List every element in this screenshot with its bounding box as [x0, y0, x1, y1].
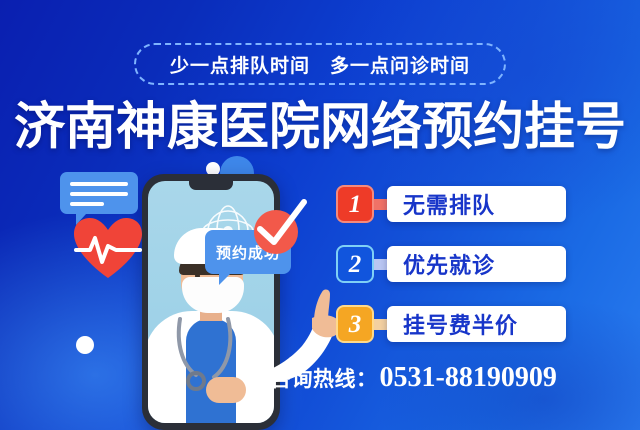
chat-line	[70, 192, 128, 196]
feature-row-3[interactable]: 3 挂号费半价	[336, 302, 566, 346]
doctor-hand	[206, 377, 246, 403]
feature-list: 1 无需排队 2 优先就诊 3 挂号费半价	[336, 182, 566, 362]
check-mark-icon	[250, 196, 310, 256]
heart-ecg-icon	[72, 216, 144, 282]
doctor-eyebrow-left	[191, 266, 203, 269]
feature-number-2: 2	[349, 252, 362, 277]
feature-number-1: 1	[349, 192, 362, 217]
feature-label-pill-1[interactable]: 无需排队	[387, 186, 566, 222]
feature-badge-1: 1	[336, 185, 374, 223]
feature-label-pill-3[interactable]: 挂号费半价	[387, 306, 566, 342]
feature-badge-3: 3	[336, 305, 374, 343]
phone-notch	[189, 181, 233, 190]
feature-label-1: 无需排队	[403, 188, 495, 220]
tagline-pill: 少一点排队时间 多一点问诊时间	[134, 43, 506, 85]
hotline-number[interactable]: 0531-88190909	[380, 362, 557, 394]
feature-number-3: 3	[349, 312, 362, 337]
chat-line	[70, 182, 128, 186]
hotline-label: 咨询热线：	[270, 363, 378, 393]
feature-badge-2: 2	[336, 245, 374, 283]
hotline: 咨询热线： 0531-88190909	[270, 362, 626, 394]
feature-label-3: 挂号费半价	[403, 308, 518, 340]
tagline-text: 少一点排队时间 多一点问诊时间	[170, 51, 470, 78]
feature-row-1[interactable]: 1 无需排队	[336, 182, 566, 226]
page-title: 济南神康医院网络预约挂号	[0, 99, 640, 157]
doctor-face-mask	[182, 277, 244, 313]
feature-row-2[interactable]: 2 优先就诊	[336, 242, 566, 286]
feature-label-pill-2[interactable]: 优先就诊	[387, 246, 566, 282]
chat-line	[70, 202, 104, 206]
feature-label-2: 优先就诊	[403, 248, 495, 280]
chat-bubble-icon	[60, 172, 138, 214]
promo-banner: 少一点排队时间 多一点问诊时间 济南神康医院网络预约挂号	[0, 0, 640, 430]
decorative-white-dot-left	[76, 336, 94, 354]
